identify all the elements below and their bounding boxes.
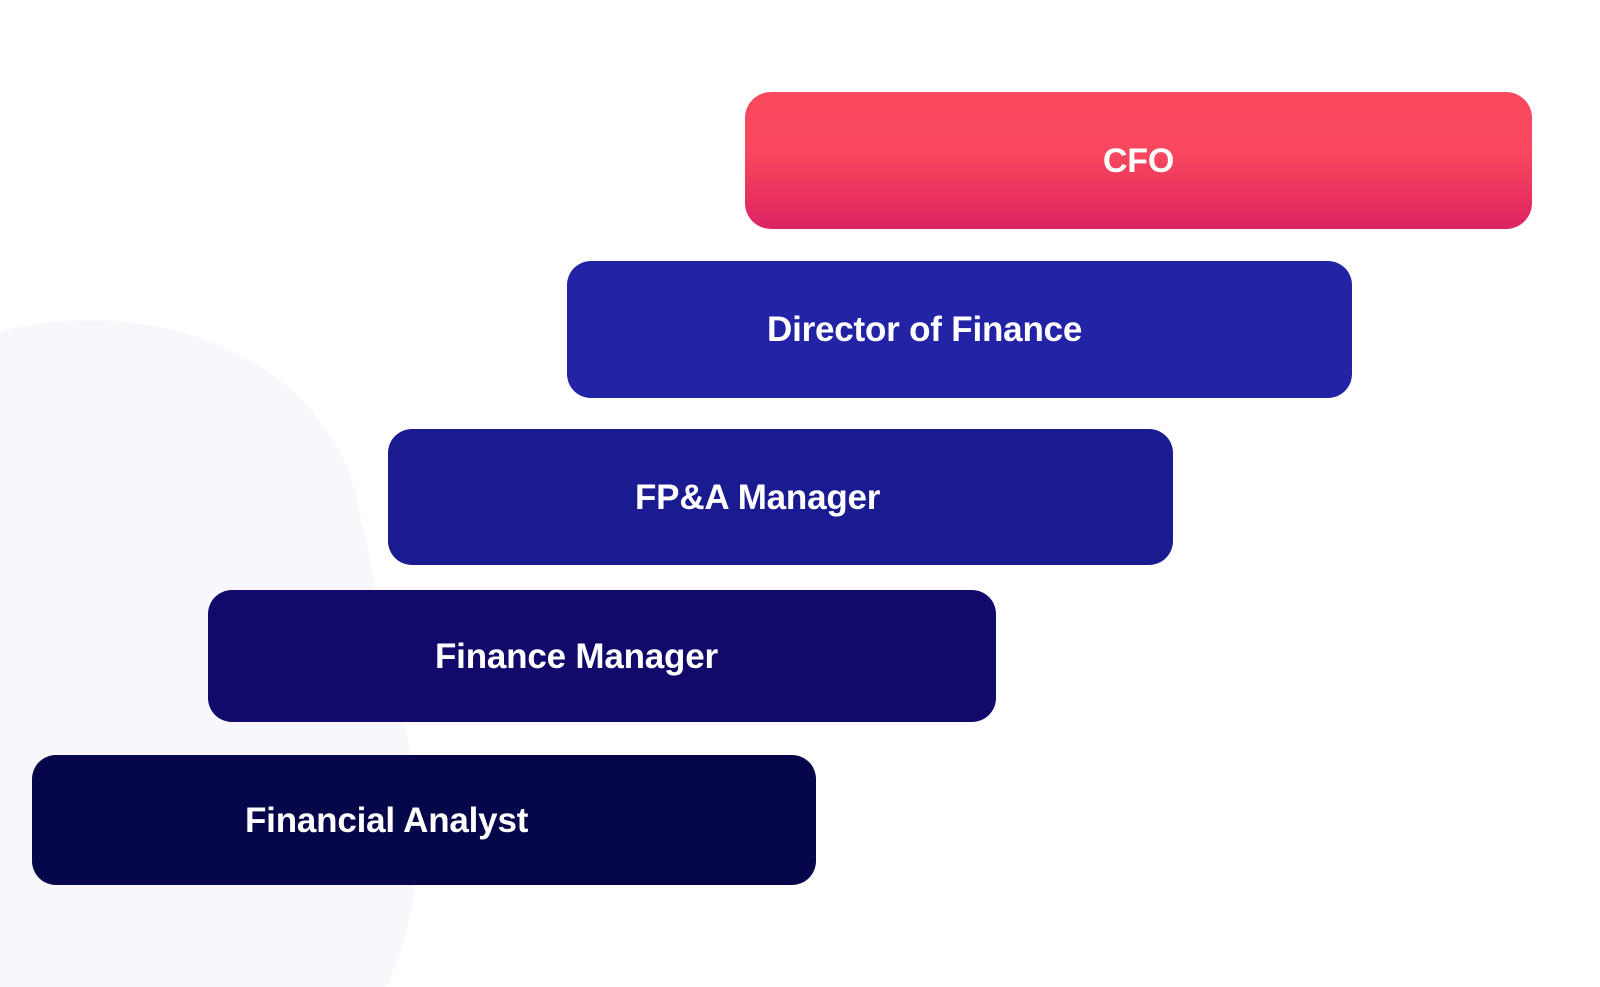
ladder-step-financial-analyst[interactable]: Financial Analyst [32,755,816,885]
ladder-step-cfo[interactable]: CFO [745,92,1532,229]
ladder-step-label: CFO [1103,144,1174,178]
ladder-step-director-of-finance[interactable]: Director of Finance [567,261,1352,398]
ladder-step-label: Director of Finance [767,312,1082,347]
diagram-canvas: CFO Director of Finance FP&A Manager Fin… [0,0,1600,987]
ladder-step-finance-manager[interactable]: Finance Manager [208,590,996,722]
ladder-step-fpa-manager[interactable]: FP&A Manager [388,429,1173,565]
ladder-step-label: FP&A Manager [635,480,880,515]
ladder-step-label: Financial Analyst [245,803,528,838]
ladder-step-label: Finance Manager [435,639,718,674]
career-ladder-diagram: CFO Director of Finance FP&A Manager Fin… [0,0,1600,987]
